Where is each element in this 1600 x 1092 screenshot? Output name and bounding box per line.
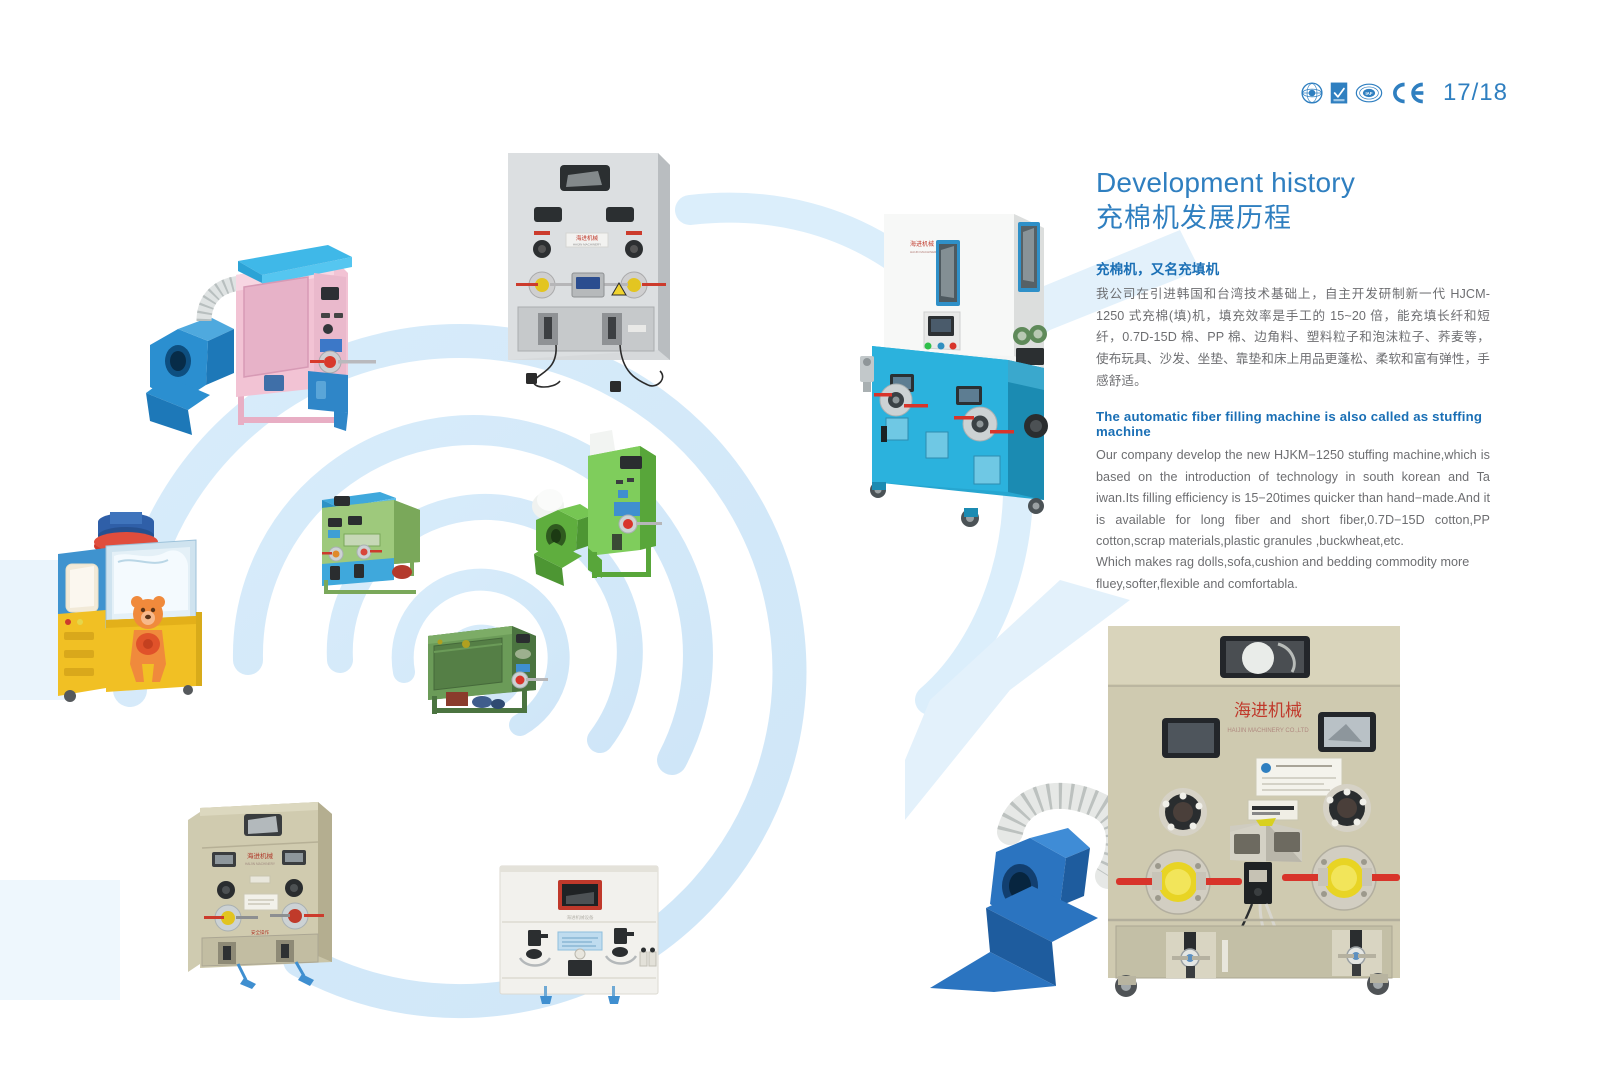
machine-photo-grey-twin-nozzle-stuffing-machine: 海进机械 HAIJIN MACHINERY: [498, 145, 688, 395]
svg-text:HAIJIN MACHINERY CO.,LTD: HAIJIN MACHINERY CO.,LTD: [1227, 728, 1309, 734]
page-number: 17/18: [1443, 81, 1508, 105]
body-paragraph-chinese: 我公司在引进韩国和台湾技术基础上，自主开发研制新一代 HJCM-1250 式充棉…: [1096, 284, 1490, 392]
subheading-chinese: 充棉机，又名充填机: [1096, 258, 1490, 278]
svg-text:海进机械: 海进机械: [910, 240, 934, 248]
svg-text:海进机械: 海进机械: [576, 234, 599, 242]
machine-photo-green-fiber-opening-machine: [420, 612, 550, 722]
svg-text:IAF: IAF: [1365, 91, 1372, 96]
svg-text:海进机械: 海进机械: [1234, 701, 1302, 721]
svg-text:海进机械设备: 海进机械设备: [567, 914, 594, 921]
ce-mark-icon: [1390, 82, 1424, 104]
body-paragraph-english-2: Which makes rag dolls,sofa,cushion and b…: [1096, 552, 1490, 573]
page-title-english: Development history: [1096, 166, 1490, 199]
svg-text:海进机械: 海进机械: [247, 851, 274, 860]
svg-text:HAIJIN MACHINERY: HAIJIN MACHINERY: [910, 250, 938, 254]
subheading-english: The automatic fiber filling machine is a…: [1096, 409, 1490, 439]
machine-photo-beige-large-twin-head-stuffing-machine-with-blower: 海进机械 HAIJIN MACHINERY CO.,LTD: [900, 600, 1400, 1000]
body-paragraph-english-1: Our company develop the new HJKM−1250 st…: [1096, 445, 1490, 552]
body-paragraph-english-3: fluey,softer,flexible and comfortabla.: [1096, 574, 1490, 595]
page-title-chinese: 充棉机发展历程: [1096, 201, 1490, 236]
iso-certification-seal-icon: [1301, 82, 1323, 104]
machine-photo-pink-stuffing-machine-with-blower: [138, 225, 378, 440]
certification-badge-row: IAF 17/18: [1301, 78, 1508, 108]
machine-photo-hjcm-1250-blue-white-automatic-filling-machine: 海进机械 HAIJIN MACHINERY: [848, 200, 1068, 540]
svg-text:HAIJIN MACHINERY: HAIJIN MACHINERY: [245, 862, 276, 866]
svg-text:安全操作: 安全操作: [251, 929, 269, 936]
cnas-check-badge-icon: [1330, 82, 1348, 104]
svg-text:HAIJIN MACHINERY: HAIJIN MACHINERY: [573, 243, 601, 247]
machine-photo-green-blue-small-opening-machine: [310, 480, 440, 600]
machine-photo-yellow-blue-teddy-bear-stuffing-machine: [48, 492, 228, 712]
text-column: Development history 充棉机发展历程 充棉机，又名充填机 我公…: [1096, 166, 1490, 595]
machine-photo-white-twin-head-stuffing-machine: 海进机械设备: [492, 856, 668, 1006]
machine-photo-green-stuffing-machine-with-blower: [528, 428, 668, 598]
machine-photo-beige-twin-head-stuffing-machine: 海进机械 HAIJIN MACHINERY: [182, 790, 347, 990]
brochure-page: IAF 17/18 Development history 充棉机发展历程 充棉…: [0, 0, 1600, 1092]
iaf-certification-seal-icon: IAF: [1355, 82, 1383, 104]
